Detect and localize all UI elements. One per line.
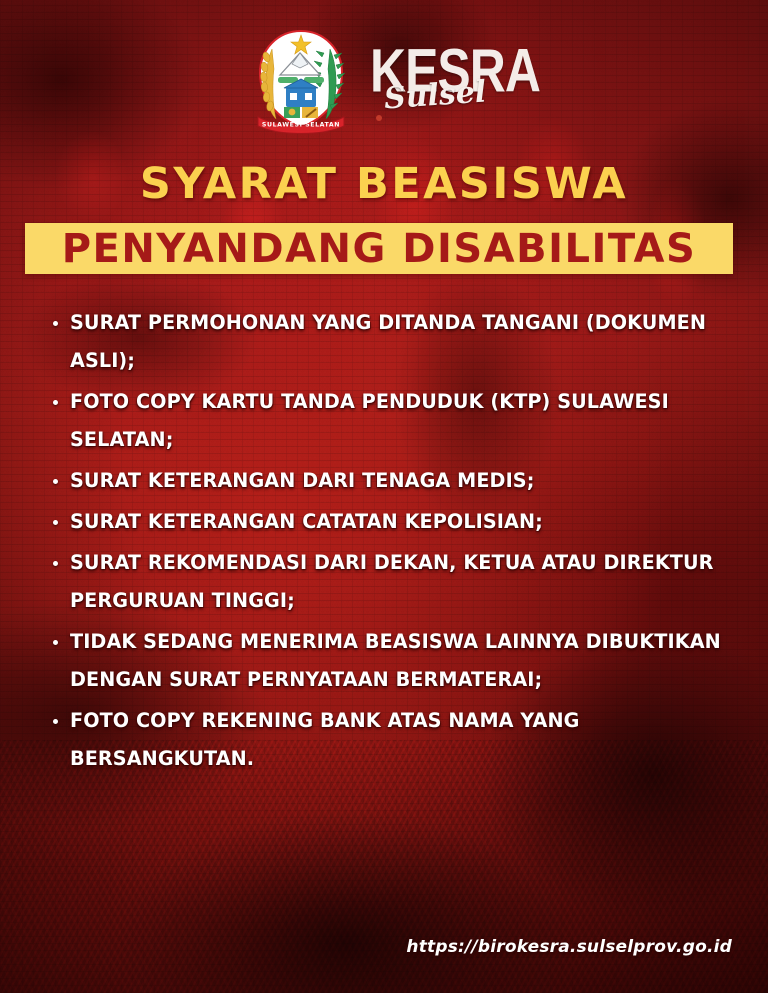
list-item: SURAT KETERANGAN CATATAN KEPOLISIAN; — [48, 503, 734, 541]
sulsel-script-wordmark: Sulsel — [383, 77, 487, 114]
svg-text:SULAWESI SELATAN: SULAWESI SELATAN — [262, 122, 340, 129]
poster-header: SULAWESI SELATAN KESRA Sulsel — [0, 22, 768, 140]
page-title-line1: SYARAT BEASISWA — [0, 163, 768, 206]
sulawesi-selatan-coat-of-arms-icon: SULAWESI SELATAN — [250, 27, 352, 135]
list-item: TIDAK SEDANG MENERIMA BEASISWA LAINNYA D… — [48, 623, 734, 699]
page-title-line2: PENYANDANG DISABILITAS — [62, 229, 697, 269]
list-item: FOTO COPY KARTU TANDA PENDUDUK (KTP) SUL… — [48, 383, 734, 459]
list-item: SURAT PERMOHONAN YANG DITANDA TANGANI (D… — [48, 304, 734, 380]
poster-content: SULAWESI SELATAN KESRA Sulsel SYARAT BEA… — [0, 0, 768, 993]
list-item: FOTO COPY REKENING BANK ATAS NAMA YANG B… — [48, 702, 734, 778]
kesra-sulsel-logo: KESRA Sulsel — [370, 39, 518, 123]
poster-canvas: SULAWESI SELATAN KESRA Sulsel SYARAT BEA… — [0, 0, 768, 993]
list-item: SURAT REKOMENDASI DARI DEKAN, KETUA ATAU… — [48, 544, 734, 620]
kesra-accent-dot — [376, 115, 382, 121]
list-item: SURAT KETERANGAN DARI TENAGA MEDIS; — [48, 462, 734, 500]
requirements-list: SURAT PERMOHONAN YANG DITANDA TANGANI (D… — [48, 304, 734, 781]
title-banner: PENYANDANG DISABILITAS — [25, 223, 733, 274]
footer-website-url[interactable]: https://birokesra.sulselprov.go.id — [406, 937, 732, 957]
